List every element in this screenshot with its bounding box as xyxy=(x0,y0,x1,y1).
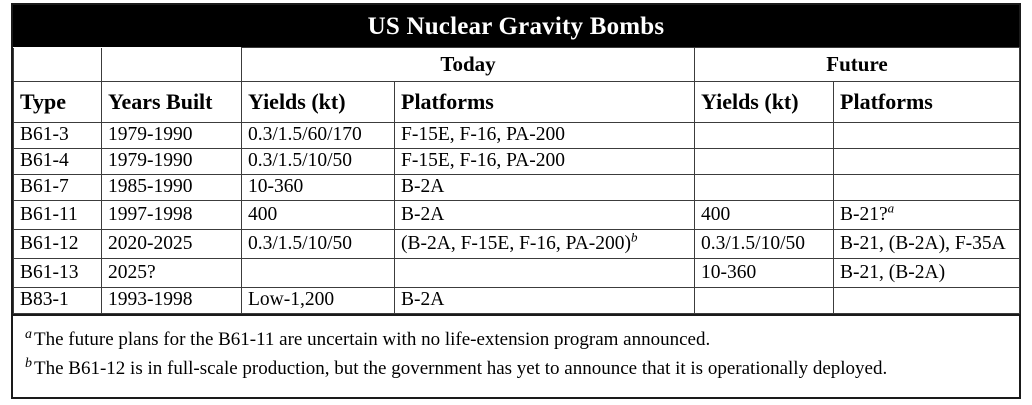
cell-future-yields xyxy=(695,149,834,175)
footnote-a-marker: a xyxy=(25,327,32,342)
cell-today-platforms-text: (B-2A, F-15E, F-16, PA-200) xyxy=(401,233,631,254)
cell-today-yields xyxy=(242,259,395,288)
cell-future-yields xyxy=(695,175,834,201)
cell-future-yields xyxy=(695,123,834,149)
cell-future-yields: 400 xyxy=(695,201,834,230)
bombs-data-table: Today Future Type Years Built Yields (kt… xyxy=(13,47,1020,314)
cell-future-platforms xyxy=(834,149,1020,175)
cell-type: B61-4 xyxy=(14,149,102,175)
cell-future-platforms xyxy=(834,288,1020,314)
footnote-b-text: The B61-12 is in full-scale production, … xyxy=(34,358,887,379)
cell-today-yields: 0.3/1.5/10/50 xyxy=(242,149,395,175)
group-header-spacer-type xyxy=(14,48,102,82)
group-header-future: Future xyxy=(695,48,1020,82)
cell-years-built: 1979-1990 xyxy=(102,149,242,175)
cell-today-platforms: B-2A xyxy=(395,175,695,201)
cell-years-built: 1993-1998 xyxy=(102,288,242,314)
cell-future-platforms xyxy=(834,123,1020,149)
cell-years-built: 1979-1990 xyxy=(102,123,242,149)
cell-today-yields: 400 xyxy=(242,201,395,230)
table-row: B61-111997-1998400B-2A400B-21?a xyxy=(14,201,1020,230)
table-row: B61-122020-20250.3/1.5/10/50(B-2A, F-15E… xyxy=(14,230,1020,259)
column-header-years-built: Years Built xyxy=(102,82,242,123)
table-row: B61-31979-19900.3/1.5/60/170F-15E, F-16,… xyxy=(14,123,1020,149)
cell-future-platforms-footnote-ref: a xyxy=(888,201,895,216)
footnote-a: aThe future plans for the B61-11 are unc… xyxy=(25,325,1007,354)
cell-today-platforms: B-2A xyxy=(395,201,695,230)
cell-future-platforms: B-21, (B-2A), F-35A xyxy=(834,230,1020,259)
page-title: US Nuclear Gravity Bombs xyxy=(368,14,665,39)
footnote-a-text: The future plans for the B61-11 are unce… xyxy=(34,329,710,350)
table-row: B61-41979-19900.3/1.5/10/50F-15E, F-16, … xyxy=(14,149,1020,175)
cell-today-platforms: (B-2A, F-15E, F-16, PA-200)b xyxy=(395,230,695,259)
table-row: B61-71985-199010-360B-2A xyxy=(14,175,1020,201)
cell-today-yields: 0.3/1.5/10/50 xyxy=(242,230,395,259)
table-title-band: US Nuclear Gravity Bombs xyxy=(13,5,1019,47)
footnote-b: bThe B61-12 is in full-scale production,… xyxy=(25,354,1007,383)
column-header-type: Type xyxy=(14,82,102,123)
nuclear-gravity-bombs-table: US Nuclear Gravity Bombs Today Future xyxy=(11,3,1021,399)
cell-future-yields xyxy=(695,288,834,314)
cell-type: B83-1 xyxy=(14,288,102,314)
cell-today-platforms xyxy=(395,259,695,288)
cell-type: B61-13 xyxy=(14,259,102,288)
page-root: US Nuclear Gravity Bombs Today Future xyxy=(0,0,1032,405)
column-header-future-yields: Yields (kt) xyxy=(695,82,834,123)
cell-today-yields: 0.3/1.5/60/170 xyxy=(242,123,395,149)
footnote-b-marker: b xyxy=(25,356,32,371)
cell-today-platforms: B-2A xyxy=(395,288,695,314)
group-header-today: Today xyxy=(242,48,695,82)
column-header-future-platforms: Platforms xyxy=(834,82,1020,123)
cell-years-built: 2020-2025 xyxy=(102,230,242,259)
column-header-today-yields: Yields (kt) xyxy=(242,82,395,123)
cell-future-yields: 0.3/1.5/10/50 xyxy=(695,230,834,259)
table-row: B61-132025?10-360B-21, (B-2A) xyxy=(14,259,1020,288)
cell-future-platforms: B-21, (B-2A) xyxy=(834,259,1020,288)
cell-today-platforms: F-15E, F-16, PA-200 xyxy=(395,123,695,149)
cell-today-yields: 10-360 xyxy=(242,175,395,201)
cell-future-platforms-text: B-21? xyxy=(840,204,888,225)
cell-today-platforms: F-15E, F-16, PA-200 xyxy=(395,149,695,175)
cell-type: B61-11 xyxy=(14,201,102,230)
group-header-spacer-years xyxy=(102,48,242,82)
column-header-today-platforms: Platforms xyxy=(395,82,695,123)
cell-type: B61-12 xyxy=(14,230,102,259)
cell-today-platforms-footnote-ref: b xyxy=(631,230,638,245)
cell-future-platforms: B-21?a xyxy=(834,201,1020,230)
cell-future-platforms xyxy=(834,175,1020,201)
cell-years-built: 2025? xyxy=(102,259,242,288)
table-body: B61-31979-19900.3/1.5/60/170F-15E, F-16,… xyxy=(14,123,1020,314)
cell-future-yields: 10-360 xyxy=(695,259,834,288)
column-header-row: Type Years Built Yields (kt) Platforms Y… xyxy=(14,82,1020,123)
cell-years-built: 1997-1998 xyxy=(102,201,242,230)
cell-type: B61-3 xyxy=(14,123,102,149)
table-row: B83-11993-1998Low-1,200B-2A xyxy=(14,288,1020,314)
group-header-row: Today Future xyxy=(14,48,1020,82)
cell-years-built: 1985-1990 xyxy=(102,175,242,201)
cell-type: B61-7 xyxy=(14,175,102,201)
footnotes-section: aThe future plans for the B61-11 are unc… xyxy=(13,314,1019,390)
cell-today-yields: Low-1,200 xyxy=(242,288,395,314)
